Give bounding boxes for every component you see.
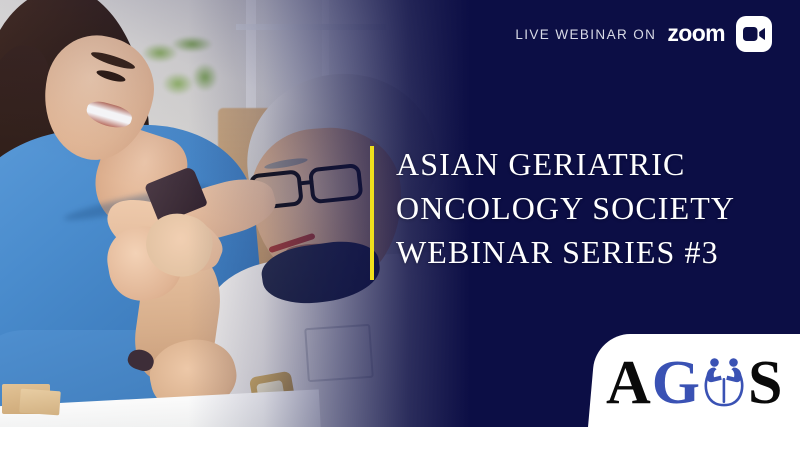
title-accent-bar — [370, 146, 374, 280]
logo-letter-g: G — [652, 352, 700, 414]
bottom-white-strip — [0, 427, 800, 450]
title-line-1: ASIAN GERIATRIC — [396, 142, 788, 186]
logo-letter-a: A — [606, 352, 651, 414]
zoom-wordmark: zoom — [667, 22, 725, 45]
two-figures-circle-emblem-icon — [702, 356, 746, 408]
title-line-2: ONCOLOGY SOCIETY — [396, 186, 788, 230]
banner-title: ASIAN GERIATRIC ONCOLOGY SOCIETY WEBINAR… — [396, 142, 788, 274]
webinar-banner: LIVE WEBINAR ON zoom ASIAN GERIATRIC ONC… — [0, 0, 800, 450]
logo-letter-s: S — [748, 352, 782, 414]
video-camera-icon — [736, 16, 772, 52]
live-webinar-label: LIVE WEBINAR ON — [515, 27, 656, 42]
agos-logo: A G S — [606, 344, 800, 422]
live-webinar-header: LIVE WEBINAR ON zoom — [515, 14, 772, 54]
title-line-3: WEBINAR SERIES #3 — [396, 230, 788, 274]
